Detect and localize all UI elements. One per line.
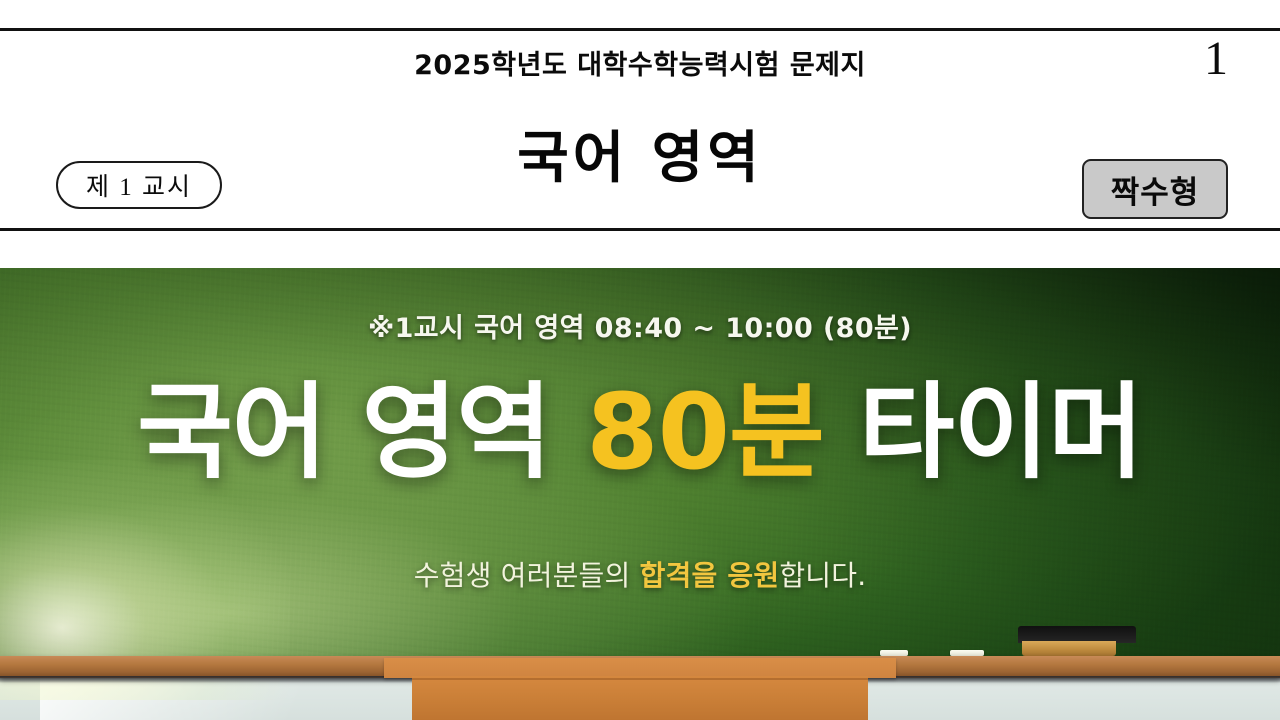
classroom-scene: ※1교시 국어 영역 08:40 ~ 10:00 (80분) 국어 영역 80분… <box>0 268 1280 720</box>
podium-seam <box>412 678 868 680</box>
chalkboard-texture <box>0 268 1280 660</box>
header-content: 2025학년도 대학수학능력시험 문제지 1 국어 영역 제 1 교시 짝수형 <box>0 31 1280 228</box>
exam-paper-header: 2025학년도 대학수학능력시험 문제지 1 국어 영역 제 1 교시 짝수형 <box>0 0 1280 268</box>
header-bottom-rule <box>0 228 1280 231</box>
form-type-badge: 짝수형 <box>1082 159 1228 219</box>
exam-subtitle: 2025학년도 대학수학능력시험 문제지 <box>0 43 1280 82</box>
podium-top <box>384 658 896 678</box>
screen-root: 2025학년도 대학수학능력시험 문제지 1 국어 영역 제 1 교시 짝수형 … <box>0 0 1280 720</box>
eraser-felt <box>1022 641 1116 656</box>
chalkboard-vignette <box>0 268 1280 660</box>
chalkboard <box>0 268 1280 660</box>
period-badge: 제 1 교시 <box>56 161 222 209</box>
podium-body <box>412 676 868 720</box>
page-number: 1 <box>1204 35 1228 83</box>
blackboard-eraser <box>1018 626 1136 658</box>
